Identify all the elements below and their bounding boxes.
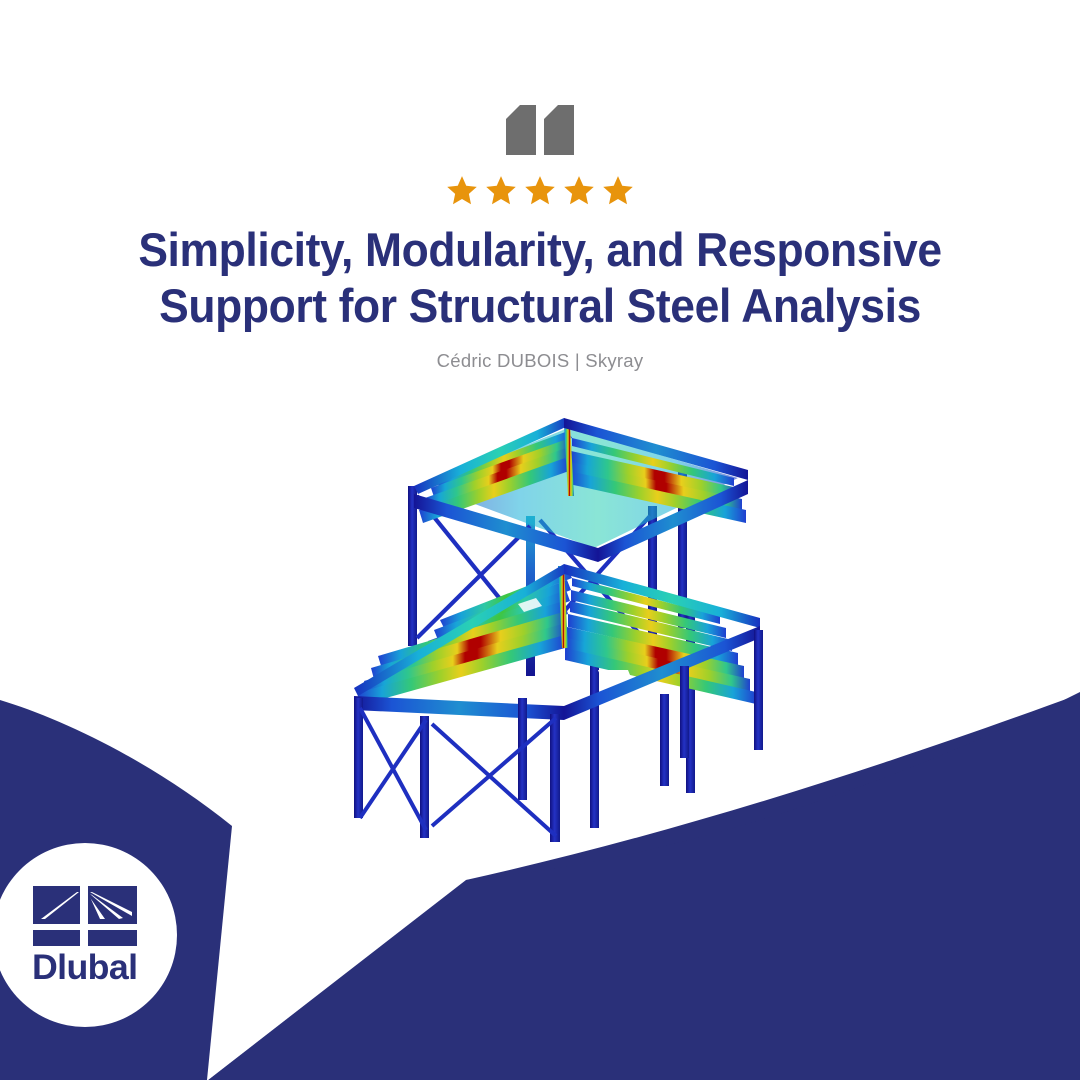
cable-stayed-bridge-icon bbox=[33, 886, 137, 946]
dlubal-wordmark: Dlubal bbox=[32, 950, 137, 985]
dlubal-logo[interactable]: Dlubal bbox=[0, 843, 177, 1027]
star-icon-4 bbox=[564, 176, 594, 205]
double-quote-icon bbox=[506, 105, 574, 155]
rating-stars bbox=[0, 176, 1080, 205]
star-icon-5 bbox=[603, 176, 633, 205]
structural-steel-fea-model bbox=[268, 398, 816, 848]
star-icon-2 bbox=[486, 176, 516, 205]
star-icon-3 bbox=[525, 176, 555, 205]
star-icon-1 bbox=[447, 176, 477, 205]
quote-mark bbox=[0, 105, 1080, 155]
testimonial-byline: Cédric DUBOIS | Skyray bbox=[0, 350, 1080, 372]
speech-tail-notch bbox=[208, 828, 470, 1080]
upper-deck-beams bbox=[419, 424, 746, 548]
testimonial-title: Simplicity, Modularity, and Responsive S… bbox=[86, 222, 993, 334]
testimonial-card: Simplicity, Modularity, and Responsive S… bbox=[0, 0, 1080, 1080]
